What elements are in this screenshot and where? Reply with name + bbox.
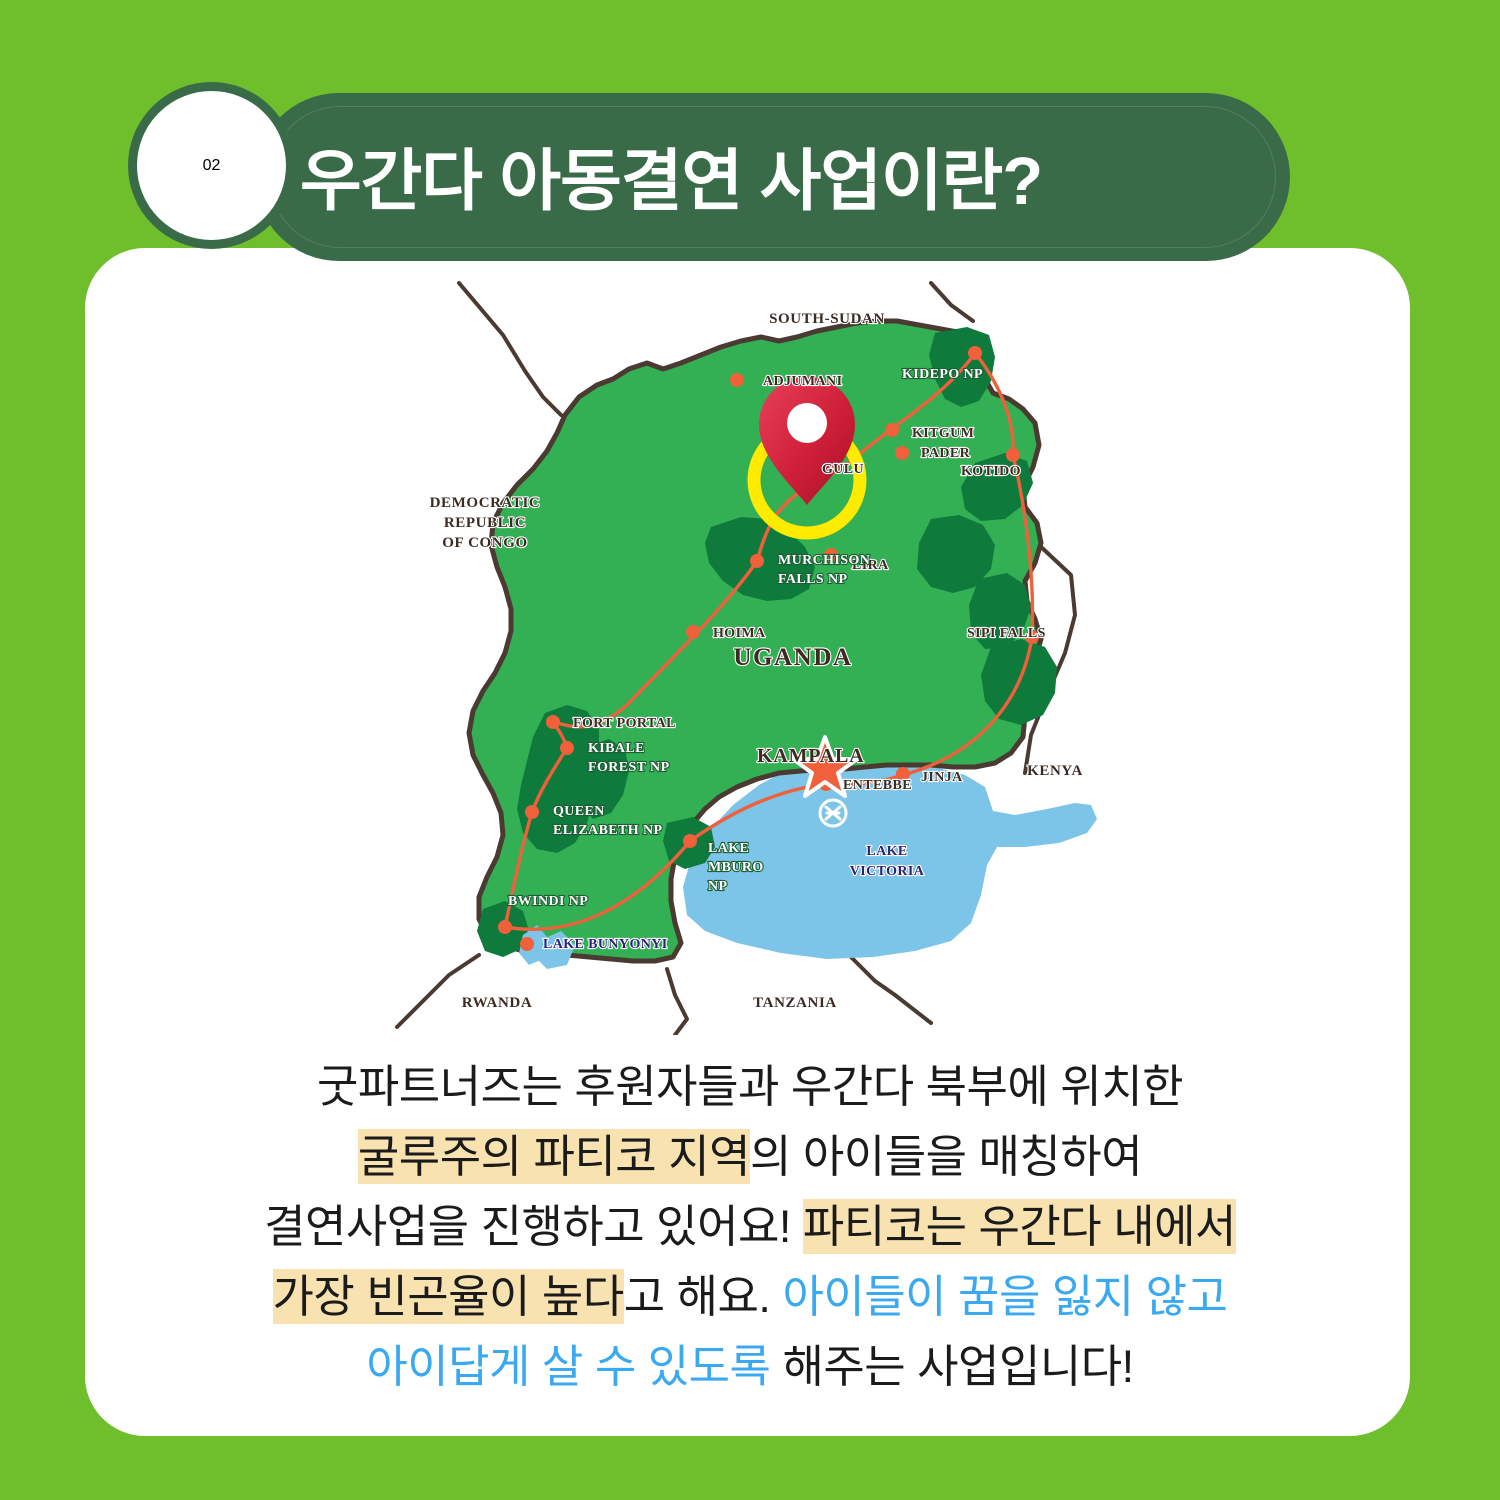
map-label-park: FOREST NP	[588, 760, 670, 775]
map-label-country: OF CONGO	[442, 535, 528, 551]
map-label-park: ELIZABETH NP	[553, 823, 662, 838]
map-label-city: ENTEBBE	[843, 778, 912, 793]
desc-blue-1: 아이들이 꿈을 잃지 않고	[782, 1271, 1227, 1322]
map-label-country: KENYA	[1027, 763, 1083, 779]
map-label-park: FALLS NP	[778, 572, 847, 587]
map-label-park: MBURO	[708, 860, 764, 875]
section-number-badge: 02	[128, 82, 295, 249]
map-label-city: SIPI FALLS	[967, 626, 1046, 641]
section-number-label: 02	[203, 157, 221, 175]
map-label-lake: LAKE BUNYONYI	[543, 937, 668, 952]
desc-line-2-rest: 의 아이들을 매칭하여	[750, 1131, 1142, 1182]
map-label-country: TANZANIA	[753, 995, 837, 1011]
map-label-park: KIDEPO NP	[902, 367, 983, 382]
desc-line-1: 굿파트너즈는 후원자들과 우간다 북부에 위치한	[317, 1061, 1183, 1112]
desc-highlight-3: 가장 빈곤율이 높다	[273, 1269, 624, 1324]
desc-line-5-rest: 해주는 사업입니다!	[770, 1341, 1133, 1392]
map-label-country: DEMOCRATIC	[430, 495, 541, 511]
map-label-park: QUEEN	[553, 804, 605, 819]
map-label-lake: LAKE	[866, 844, 907, 859]
map-label-city: JINJA	[921, 770, 963, 785]
map-label-city: HOIMA	[713, 626, 766, 641]
map-label-lake: VICTORIA	[850, 864, 925, 879]
map-label-city: GULU	[822, 462, 864, 477]
map-label-city: KAMPALA	[757, 745, 864, 767]
desc-highlight-2: 파티코는 우간다 내에서	[803, 1199, 1236, 1254]
map-label-park: BWINDI NP	[508, 894, 588, 909]
desc-line-4-mid: 고 해요.	[624, 1271, 783, 1322]
map-label-city: KITGUM	[912, 426, 974, 441]
map-label-country: REPUBLIC	[444, 515, 526, 531]
map-label-city: FORT PORTAL	[573, 716, 676, 731]
uganda-map: SOUTH-SUDANDEMOCRATICREPUBLICOF CONGOKEN…	[340, 275, 1170, 1035]
map-label-country: RWANDA	[462, 995, 533, 1011]
map-label-city: ADJUMANI	[763, 374, 842, 389]
map-label-city: KOTIDO	[961, 464, 1021, 479]
map-label-country: UGANDA	[733, 644, 852, 671]
map-label-city: PADER	[921, 446, 971, 461]
desc-blue-2: 아이답게 살 수 있도록	[366, 1341, 770, 1392]
page-title: 우간다 아동결연 사업이란?	[300, 95, 1200, 255]
map-label-country: SOUTH-SUDAN	[769, 311, 885, 327]
map-label-park: LAKE	[708, 841, 749, 856]
desc-highlight-1: 굴루주의 파티코 지역	[358, 1129, 750, 1184]
map-label-park: KIBALE	[588, 741, 645, 756]
desc-line-3-pre: 결연사업을 진행하고 있어요!	[264, 1201, 803, 1252]
description-paragraph: 굿파트너즈는 후원자들과 우간다 북부에 위치한 굴루주의 파티코 지역의 아이…	[110, 1052, 1390, 1402]
map-label-park: MURCHISON	[778, 553, 870, 568]
map-label-park: NP	[708, 879, 728, 894]
